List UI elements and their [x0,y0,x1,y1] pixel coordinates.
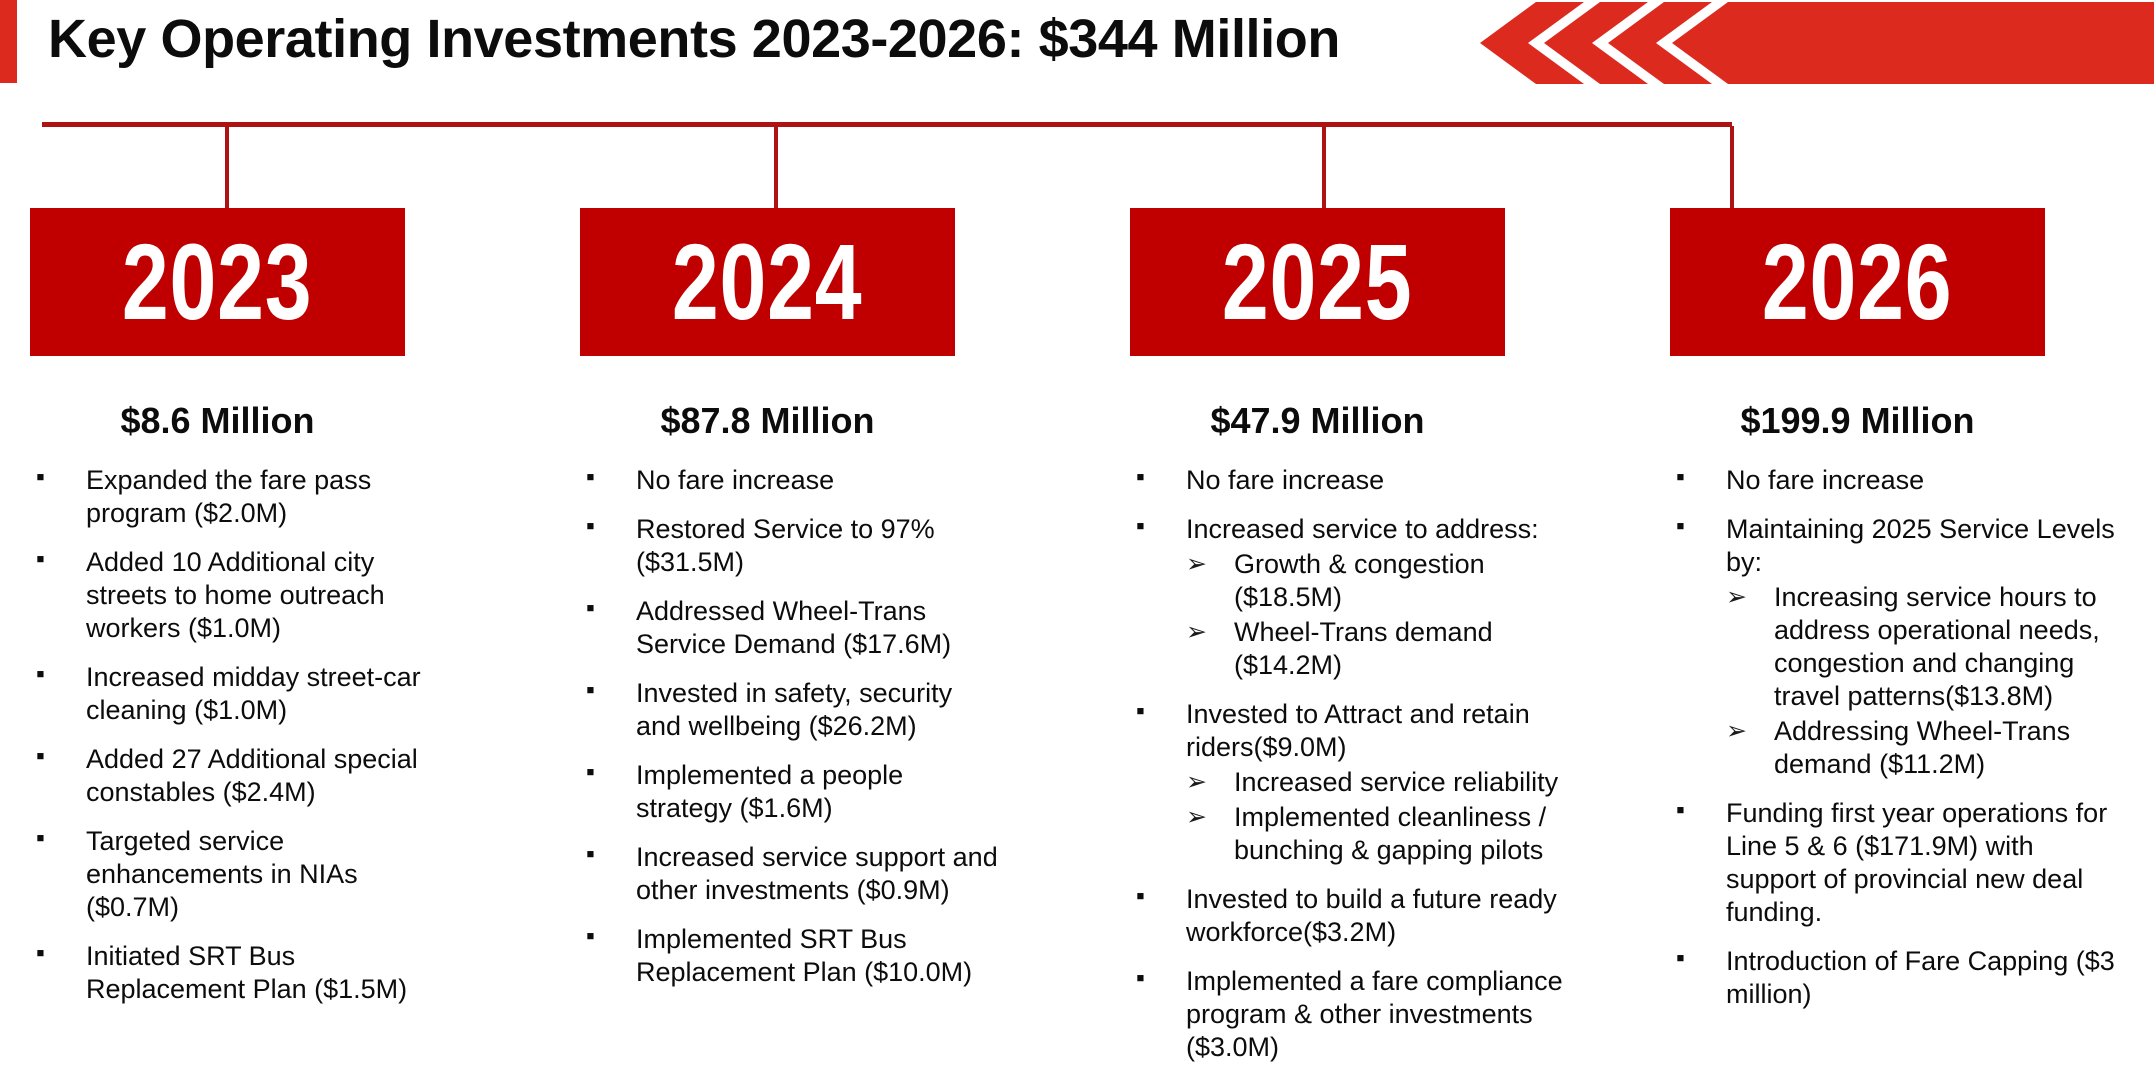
sub-list-item: Implemented cleanliness / bunching & gap… [1186,801,1570,867]
year-badge-2025[interactable]: 2025 [1130,208,1505,356]
triple-chevron-left-icon [1480,2,2154,84]
sub-list-item: Wheel-Trans demand ($14.2M) [1186,616,1570,682]
list-item: Invested to Attract and retain riders($9… [1130,698,1570,867]
year-label: 2023 [122,228,313,336]
sub-list: Growth & congestion ($18.5M) Wheel-Trans… [1186,548,1570,682]
list-item: Restored Service to 97% ($31.5M) [580,513,1000,579]
header-accent-bar [0,0,17,83]
list-item: Implemented a people strategy ($1.6M) [580,759,1000,825]
list-item: Addressed Wheel-Trans Service Demand ($1… [580,595,1000,661]
year-column-2024: 2024 $87.8 Million No fare increase Rest… [580,208,1000,1005]
year-amount-2025: $47.9 Million [1130,400,1505,442]
list-item: Introduction of Fare Capping ($3 million… [1670,945,2130,1011]
list-item: No fare increase [580,464,1000,497]
timeline-axis [42,122,1732,127]
year-amount-2026: $199.9 Million [1670,400,2045,442]
year-column-2025: 2025 $47.9 Million No fare increase Incr… [1130,208,1570,1080]
timeline-drop-2025 [1322,126,1326,208]
year-badge-2023[interactable]: 2023 [30,208,405,356]
list-item: Implemented a fare compliance program & … [1130,965,1570,1064]
list-item: Targeted service enhancements in NIAs ($… [30,825,450,924]
list-item: Funding first year operations for Line 5… [1670,797,2130,929]
list-item: Invested to build a future ready workfor… [1130,883,1570,949]
list-item: Increased service to address: Growth & c… [1130,513,1570,682]
list-item: Invested in safety, security and wellbei… [580,677,1000,743]
sub-list-item: Increased service reliability [1186,766,1570,799]
list-item: Increased midday street-car cleaning ($1… [30,661,450,727]
list-item: Initiated SRT Bus Replacement Plan ($1.5… [30,940,450,1006]
list-item: Maintaining 2025 Service Levels by: Incr… [1670,513,2130,781]
timeline-drop-2024 [774,126,778,208]
investment-list-2024: No fare increase Restored Service to 97%… [580,464,1000,989]
investment-list-2026: No fare increase Maintaining 2025 Servic… [1670,464,2130,1011]
page-title: Key Operating Investments 2023-2026: $34… [48,4,1340,74]
year-amount-2024: $87.8 Million [580,400,955,442]
slide-header: Key Operating Investments 2023-2026: $34… [0,0,2154,92]
list-item: Expanded the fare pass program ($2.0M) [30,464,450,530]
list-item: Implemented SRT Bus Replacement Plan ($1… [580,923,1000,989]
investment-list-2023: Expanded the fare pass program ($2.0M) A… [30,464,450,1006]
year-amount-2023: $8.6 Million [30,400,405,442]
investment-list-2025: No fare increase Increased service to ad… [1130,464,1570,1064]
year-label: 2024 [672,228,863,336]
sub-list-item: Growth & congestion ($18.5M) [1186,548,1570,614]
list-item: No fare increase [1130,464,1570,497]
timeline-drop-2023 [225,126,229,208]
year-label: 2026 [1762,228,1953,336]
sub-list: Increased service reliability Implemente… [1186,766,1570,867]
timeline-drop-2026 [1730,126,1734,208]
year-badge-2026[interactable]: 2026 [1670,208,2045,356]
year-column-2026: 2026 $199.9 Million No fare increase Mai… [1670,208,2130,1027]
list-item: Added 27 Additional special constables (… [30,743,450,809]
list-item: No fare increase [1670,464,2130,497]
year-column-2023: 2023 $8.6 Million Expanded the fare pass… [30,208,450,1022]
sub-list-item: Increasing service hours to address oper… [1726,581,2130,713]
sub-list-item: Addressing Wheel-Trans demand ($11.2M) [1726,715,2130,781]
year-badge-2024[interactable]: 2024 [580,208,955,356]
list-item: Added 10 Additional city streets to home… [30,546,450,645]
list-item: Increased service support and other inve… [580,841,1000,907]
year-label: 2025 [1222,228,1413,336]
sub-list: Increasing service hours to address oper… [1726,581,2130,781]
